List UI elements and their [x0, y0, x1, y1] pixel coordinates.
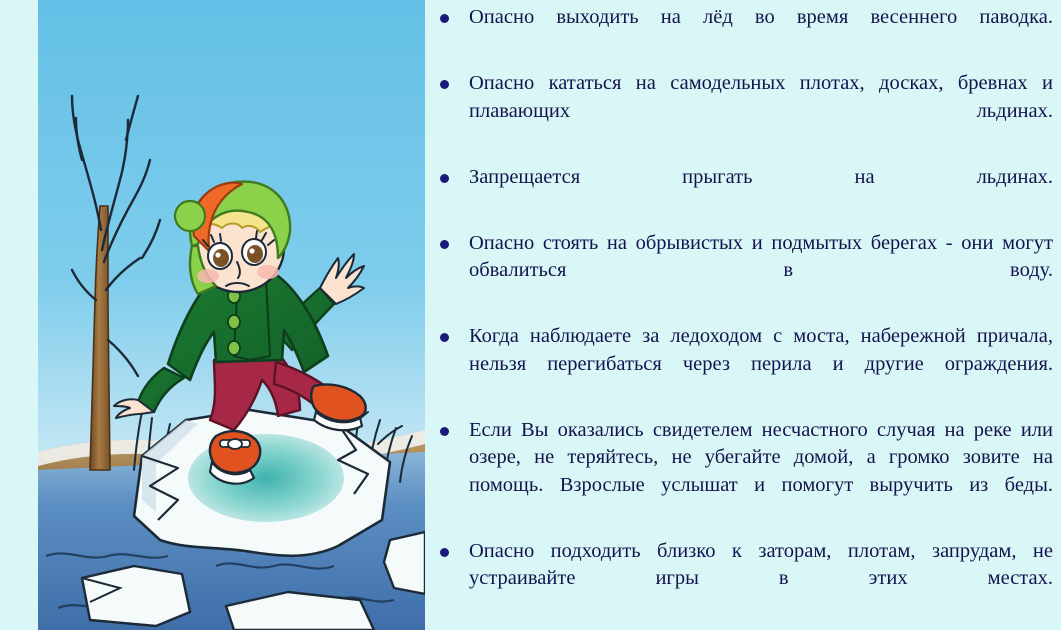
list-item: Опасно стоять на обрывистых и подмытых б…	[433, 230, 1053, 313]
list-item-text: Опасно кататься на самодельных плотах, д…	[469, 70, 1053, 153]
safety-rules-list: Опасно выходить на лёд во время весеннег…	[433, 4, 1053, 630]
bullet-dot-icon	[440, 14, 449, 23]
list-item-text: Когда наблюдаете за ледоходом с моста, н…	[469, 323, 1053, 406]
list-item: Опасно выходить на лёд во время весеннег…	[433, 4, 1053, 59]
bullet-dot-icon	[440, 240, 449, 249]
bullet-dot-icon	[440, 427, 449, 436]
slide-root: Опасно выходить на лёд во время весеннег…	[0, 0, 1061, 630]
list-item: Запрещается прыгать на льдинах.	[433, 164, 1053, 219]
list-item-text: Запрещается прыгать на льдинах.	[469, 164, 1053, 219]
list-item-text: Опасно подходить близко к заторам, плота…	[469, 538, 1053, 621]
ice-floe-small-left	[82, 566, 190, 626]
bullet-dot-icon	[440, 80, 449, 89]
list-item-text: Если Вы оказались свидетелем несчастного…	[469, 417, 1053, 527]
child-boot-left-strap	[220, 439, 250, 449]
bullet-dot-icon	[440, 333, 449, 342]
ice-safety-illustration	[38, 0, 425, 630]
bullet-dot-icon	[440, 174, 449, 183]
child-boot-left	[210, 431, 260, 473]
list-item: Опасно подходить близко к заторам, плота…	[433, 538, 1053, 621]
list-item: Если Вы оказались свидетелем несчастного…	[433, 417, 1053, 527]
list-item-text: Опасно стоять на обрывистых и подмытых б…	[469, 230, 1053, 313]
list-item-text: Опасно выходить на лёд во время весеннег…	[469, 4, 1053, 59]
child-coat-buttons	[228, 289, 240, 355]
child-hat-pompom	[175, 201, 205, 231]
bullet-dot-icon	[440, 548, 449, 557]
list-item: Опасно кататься на самодельных плотах, д…	[433, 70, 1053, 153]
list-item: Когда наблюдаете за ледоходом с моста, н…	[433, 323, 1053, 406]
